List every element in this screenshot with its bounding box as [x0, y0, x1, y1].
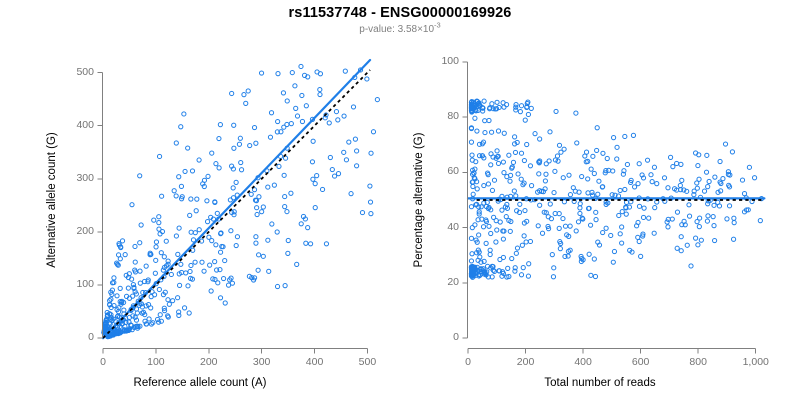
data-point	[578, 206, 582, 210]
data-point	[551, 275, 555, 279]
data-point	[561, 216, 565, 220]
data-point	[230, 91, 234, 95]
data-point	[223, 301, 227, 305]
data-point	[261, 205, 265, 209]
data-point	[538, 137, 542, 141]
data-point	[320, 187, 324, 191]
data-point	[526, 274, 530, 278]
data-point	[568, 193, 572, 197]
data-point	[595, 148, 599, 152]
data-point	[318, 92, 322, 96]
y-tick-label: 60	[447, 165, 459, 177]
data-point	[488, 248, 492, 252]
data-point	[620, 241, 624, 245]
data-point	[477, 233, 481, 237]
data-point	[244, 101, 248, 105]
data-point	[625, 162, 629, 166]
data-point	[332, 174, 336, 178]
data-point	[520, 243, 524, 247]
scatter-plot-canvas	[0, 0, 400, 400]
data-point	[115, 294, 119, 298]
data-point	[276, 119, 280, 123]
data-point	[189, 230, 193, 234]
data-point	[214, 162, 218, 166]
data-point	[349, 192, 353, 196]
data-point	[575, 141, 579, 145]
data-point	[615, 145, 619, 149]
data-point	[230, 281, 234, 285]
data-point	[328, 155, 332, 159]
data-point	[190, 169, 194, 173]
data-point	[289, 191, 293, 195]
data-point	[208, 263, 212, 267]
data-point	[557, 226, 561, 230]
data-point	[591, 154, 595, 158]
data-point	[172, 189, 176, 193]
data-point	[513, 135, 517, 139]
data-point	[637, 204, 641, 208]
data-point	[123, 253, 127, 257]
data-point	[473, 223, 477, 227]
data-point	[213, 260, 217, 264]
data-point	[330, 167, 334, 171]
data-point	[697, 177, 701, 181]
data-point	[187, 311, 191, 315]
data-point	[184, 271, 188, 275]
data-point	[501, 237, 505, 241]
data-point	[183, 169, 187, 173]
data-point	[327, 121, 331, 125]
data-point	[523, 118, 527, 122]
data-point	[492, 215, 496, 219]
data-point	[179, 125, 183, 129]
data-point	[601, 151, 605, 155]
data-point	[289, 122, 293, 126]
data-point	[489, 130, 493, 134]
data-point	[176, 296, 180, 300]
data-point	[747, 165, 751, 169]
data-point	[162, 255, 166, 259]
data-point	[637, 162, 641, 166]
data-point	[636, 182, 640, 186]
data-point	[685, 243, 689, 247]
data-point	[270, 222, 274, 226]
data-point	[355, 149, 359, 153]
data-point	[494, 240, 498, 244]
data-point	[696, 163, 700, 167]
data-point	[723, 142, 727, 146]
data-point	[318, 87, 322, 91]
data-point	[469, 236, 473, 240]
data-point	[666, 225, 670, 229]
data-point	[557, 143, 561, 147]
data-point	[519, 151, 523, 155]
data-point	[256, 268, 260, 272]
figure-root: rs11537748 - ENSG00000169926 p-value: 3.…	[0, 0, 800, 400]
data-point	[675, 161, 679, 165]
data-point	[533, 132, 537, 136]
data-point	[343, 69, 347, 73]
data-point	[336, 118, 340, 122]
data-point	[650, 180, 654, 184]
data-point	[596, 192, 600, 196]
data-point	[511, 160, 515, 164]
data-point	[275, 284, 279, 288]
data-point	[194, 209, 198, 213]
data-point	[502, 171, 506, 175]
data-point	[193, 231, 197, 235]
data-point	[260, 210, 264, 214]
data-point	[727, 204, 731, 208]
data-point	[174, 141, 178, 145]
data-point	[496, 129, 500, 133]
data-point	[205, 199, 209, 203]
data-point	[508, 179, 512, 183]
data-point	[238, 136, 242, 140]
data-point	[679, 162, 683, 166]
data-point	[521, 266, 525, 270]
y-tick-label: 300	[76, 172, 94, 184]
data-point	[158, 313, 162, 317]
data-point	[705, 219, 709, 223]
data-point	[300, 119, 304, 123]
x-tick-label: 200	[496, 356, 556, 368]
y-tick-label: 100	[76, 278, 94, 290]
data-point	[126, 286, 130, 290]
data-point	[154, 245, 158, 249]
data-point	[483, 130, 487, 134]
data-point	[189, 263, 193, 267]
data-point	[589, 273, 593, 277]
data-point	[609, 233, 613, 237]
data-point	[610, 193, 614, 197]
data-point	[655, 182, 659, 186]
data-point	[528, 164, 532, 168]
data-point	[548, 130, 552, 134]
data-point	[269, 111, 273, 115]
data-point	[730, 150, 734, 154]
data-point	[160, 194, 164, 198]
data-point	[283, 205, 287, 209]
data-point	[299, 64, 303, 68]
data-point	[202, 269, 206, 273]
x-tick-label: 200	[179, 356, 239, 368]
data-point	[524, 240, 528, 244]
data-point	[133, 244, 137, 248]
data-point	[514, 108, 518, 112]
data-point	[266, 238, 270, 242]
data-point	[276, 72, 280, 76]
data-point	[112, 276, 116, 280]
data-point	[228, 198, 232, 202]
data-point	[169, 272, 173, 276]
data-point	[550, 253, 554, 257]
data-point	[306, 226, 310, 230]
data-point	[313, 206, 317, 210]
data-point	[529, 184, 533, 188]
data-point	[586, 177, 590, 181]
data-point	[537, 172, 541, 176]
data-point	[157, 154, 161, 158]
data-point	[200, 260, 204, 264]
data-point	[351, 105, 355, 109]
data-point	[304, 241, 308, 245]
data-point	[221, 276, 225, 280]
data-point	[218, 250, 222, 254]
y-tick-label: 80	[447, 110, 459, 122]
data-point	[758, 219, 762, 223]
data-point	[369, 151, 373, 155]
data-point	[711, 215, 715, 219]
data-point	[255, 206, 259, 210]
data-point	[504, 103, 508, 107]
data-point	[495, 100, 499, 104]
data-point	[618, 232, 622, 236]
data-point	[492, 178, 496, 182]
data-point	[234, 243, 238, 247]
data-point	[563, 224, 567, 228]
data-point	[578, 211, 582, 215]
data-point	[487, 118, 491, 122]
data-point	[239, 168, 243, 172]
data-point	[231, 186, 235, 190]
data-point	[706, 202, 710, 206]
data-point	[580, 174, 584, 178]
data-point	[489, 231, 493, 235]
data-point	[515, 246, 519, 250]
data-point	[290, 70, 294, 74]
data-point	[235, 235, 239, 239]
data-point	[216, 281, 220, 285]
data-point	[133, 260, 137, 264]
data-point	[679, 235, 683, 239]
data-point	[752, 176, 756, 180]
data-point	[159, 251, 163, 255]
data-point	[179, 262, 183, 266]
data-point	[500, 208, 504, 212]
data-point	[315, 70, 319, 74]
data-point	[164, 239, 168, 243]
data-point	[680, 178, 684, 182]
data-point	[375, 97, 379, 101]
data-point	[167, 302, 171, 306]
data-point	[209, 289, 213, 293]
y-tick-label: 500	[76, 66, 94, 78]
data-point	[574, 229, 578, 233]
data-point	[186, 146, 190, 150]
data-point	[218, 123, 222, 127]
data-point	[473, 116, 477, 120]
data-point	[300, 93, 304, 97]
data-point	[138, 281, 142, 285]
data-point	[489, 163, 493, 167]
data-point	[522, 158, 526, 162]
y-tick-label: 400	[76, 119, 94, 131]
data-point	[712, 238, 716, 242]
data-point	[527, 262, 531, 266]
y-tick-label: 40	[447, 221, 459, 233]
data-point	[647, 216, 651, 220]
data-point	[324, 242, 328, 246]
data-point	[525, 142, 529, 146]
scatter-plot-canvas	[400, 0, 800, 400]
x-tick-label: 100	[126, 356, 186, 368]
data-point	[237, 142, 241, 146]
data-point	[217, 166, 221, 170]
data-point	[706, 185, 710, 189]
data-point	[154, 240, 158, 244]
data-point	[207, 235, 211, 239]
data-point	[504, 215, 508, 219]
data-point	[177, 226, 181, 230]
data-point	[642, 206, 646, 210]
data-point	[155, 317, 159, 321]
data-point	[469, 205, 473, 209]
data-point	[587, 252, 591, 256]
data-point	[257, 195, 261, 199]
data-point	[633, 185, 637, 189]
data-point	[702, 189, 706, 193]
data-point	[308, 242, 312, 246]
data-point	[704, 170, 708, 174]
data-point	[234, 180, 238, 184]
data-point	[272, 183, 276, 187]
data-point	[592, 257, 596, 261]
data-point	[523, 208, 527, 212]
data-point	[519, 177, 523, 181]
data-point	[299, 222, 303, 226]
data-point	[118, 286, 122, 290]
data-point	[254, 241, 258, 245]
data-point	[713, 175, 717, 179]
data-point	[666, 186, 670, 190]
data-point	[526, 112, 530, 116]
data-point	[311, 177, 315, 181]
data-point	[696, 243, 700, 247]
data-point	[157, 215, 161, 219]
data-point	[139, 223, 143, 227]
data-point	[490, 188, 494, 192]
data-point	[197, 228, 201, 232]
data-point	[487, 224, 491, 228]
data-point	[218, 296, 222, 300]
y-axis-title: Alternative allele count (G)	[46, 62, 58, 338]
data-point	[214, 243, 218, 247]
x-tick-label: 400	[553, 356, 613, 368]
data-point	[130, 203, 134, 207]
data-point	[210, 151, 214, 155]
data-point	[594, 210, 598, 214]
data-point	[697, 225, 701, 229]
data-point	[721, 177, 725, 181]
data-point	[687, 203, 691, 207]
data-point	[662, 176, 666, 180]
data-point	[149, 295, 153, 299]
data-point	[615, 157, 619, 161]
data-point	[604, 226, 608, 230]
data-point	[540, 231, 544, 235]
data-point	[246, 89, 250, 93]
data-point	[554, 109, 558, 113]
data-point	[293, 84, 297, 88]
data-point	[334, 109, 338, 113]
data-point	[193, 260, 197, 264]
data-point	[620, 210, 624, 214]
data-point	[171, 299, 175, 303]
data-point	[631, 133, 635, 137]
data-point	[506, 266, 510, 270]
data-point	[232, 146, 236, 150]
data-point	[154, 258, 158, 262]
data-point	[501, 160, 505, 164]
data-point	[689, 264, 693, 268]
data-point	[679, 249, 683, 253]
data-point	[182, 112, 186, 116]
data-point	[706, 214, 710, 218]
data-point	[286, 238, 290, 242]
data-point	[641, 215, 645, 219]
data-point	[707, 179, 711, 183]
data-point	[368, 200, 372, 204]
data-point	[717, 204, 721, 208]
data-point	[502, 105, 506, 109]
data-point	[623, 134, 627, 138]
data-point	[519, 104, 523, 108]
y-tick-label: 20	[447, 276, 459, 288]
data-point	[355, 164, 359, 168]
data-point	[153, 271, 157, 275]
data-point	[294, 106, 298, 110]
data-point	[174, 194, 178, 198]
data-point	[694, 236, 698, 240]
data-point	[589, 167, 593, 171]
data-point	[712, 224, 716, 228]
data-point	[248, 143, 252, 147]
data-point	[513, 150, 517, 154]
data-point	[649, 173, 653, 177]
data-point	[624, 200, 628, 204]
data-point	[282, 173, 286, 177]
data-point	[197, 158, 201, 162]
data-point	[295, 114, 299, 118]
data-point	[595, 126, 599, 130]
data-point	[135, 311, 139, 315]
data-point	[617, 213, 621, 217]
data-point	[518, 202, 522, 206]
data-point	[365, 77, 369, 81]
data-point	[482, 99, 486, 103]
data-point	[215, 211, 219, 215]
x-tick-label: 800	[668, 356, 728, 368]
data-point	[732, 221, 736, 225]
x-tick-label: 500	[337, 356, 397, 368]
x-tick-label: 0	[73, 356, 133, 368]
data-point	[653, 206, 657, 210]
data-point	[486, 182, 490, 186]
data-point	[553, 169, 557, 173]
y-tick-label: 200	[76, 225, 94, 237]
data-point	[342, 150, 346, 154]
data-point	[705, 153, 709, 157]
data-point	[229, 229, 233, 233]
data-point	[668, 155, 672, 159]
data-point	[645, 158, 649, 162]
data-point	[605, 156, 609, 160]
data-point	[576, 220, 580, 224]
data-point	[470, 153, 474, 157]
data-point	[166, 298, 170, 302]
data-point	[368, 184, 372, 188]
